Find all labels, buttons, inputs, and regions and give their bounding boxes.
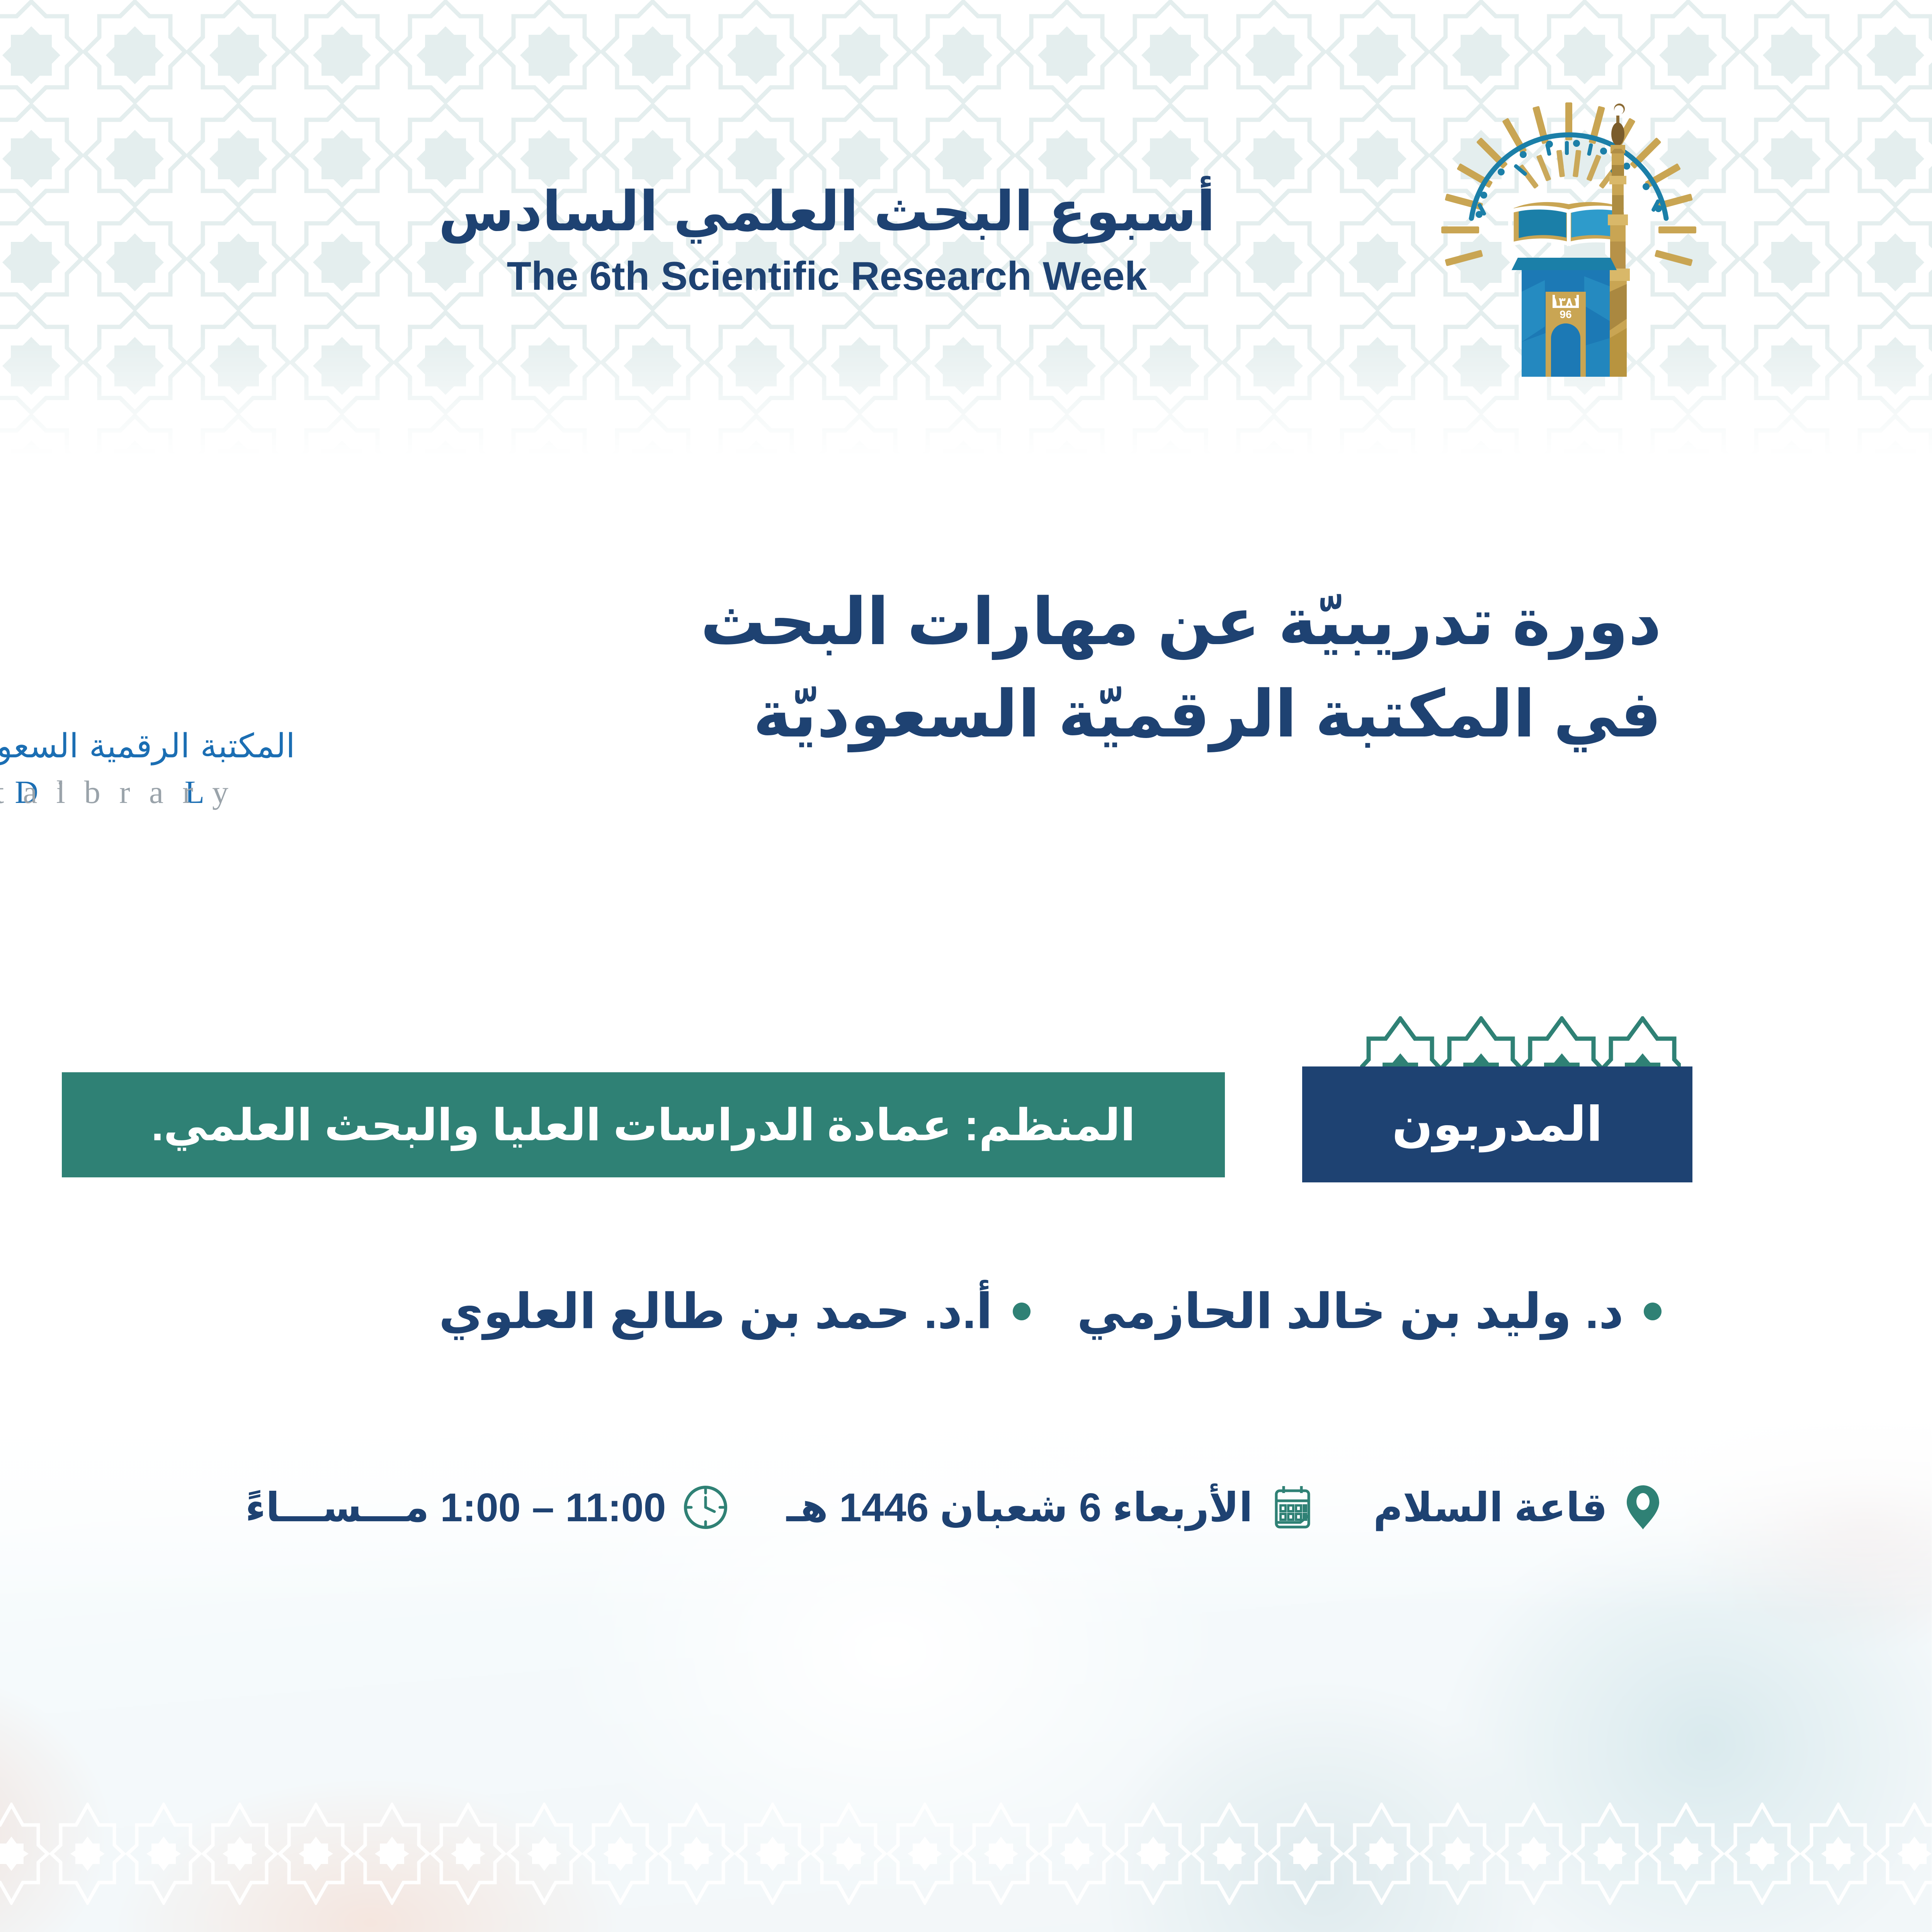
trainers-heading-label: المدربون <box>1392 1097 1602 1152</box>
event-name-english: The 6th Scientific Research Week <box>402 251 1252 301</box>
location-label: قاعة السلام <box>1373 1484 1607 1531</box>
course-title-line-2: في المكتبة الرقميّة السعوديّة <box>348 668 1662 760</box>
decorative-star-band <box>0 1803 1932 1905</box>
clock-icon <box>683 1485 728 1530</box>
course-title-line-1: دورة تدريبيّة عن مهارات البحث <box>348 576 1662 668</box>
list-item: د. وليد بن خالد الحازمي <box>1077 1283 1662 1340</box>
organizer-label: المنظم: عمادة الدراسات العليا والبحث الع… <box>151 1099 1136 1151</box>
event-details-row: قاعة السلام <box>0 1484 1662 1531</box>
star-crown-ornament <box>1360 1016 1681 1067</box>
time-label: 11:00 – 1:00 مـــســـاءً <box>245 1484 666 1531</box>
date-label: الأربعاء 6 شعبان 1446 هـ <box>786 1484 1253 1531</box>
saudi-digital-library-logo: SDL المكتبة الرقمية السعودية S a u d i D… <box>0 591 380 838</box>
trainers-list: د. وليد بن خالد الحازمي أ.د. حمد بن طالع… <box>0 1283 1662 1340</box>
event-name-block: أسبوع البحث العلمي السادس The 6th Scient… <box>402 182 1252 301</box>
location-detail: قاعة السلام <box>1373 1484 1662 1531</box>
organizer-badge: المنظم: عمادة الدراسات العليا والبحث الع… <box>62 1072 1225 1177</box>
trainers-heading-badge: المدربون <box>1302 1066 1692 1182</box>
bullet-dot-icon <box>1013 1303 1031 1320</box>
logo-year-hijri: ١٣٨١ <box>1551 295 1580 309</box>
location-pin-icon <box>1624 1485 1662 1530</box>
logo-year-latin: 96 <box>1560 308 1571 320</box>
calendar-icon <box>1270 1485 1315 1530</box>
trainer-name: د. وليد بن خالد الحازمي <box>1077 1283 1624 1340</box>
event-name-arabic: أسبوع البحث العلمي السادس <box>402 182 1252 242</box>
time-detail: 11:00 – 1:00 مـــســـاءً <box>245 1484 729 1531</box>
bullet-dot-icon <box>1644 1303 1662 1320</box>
trainer-name: أ.د. حمد بن طالع العلوي <box>439 1283 993 1340</box>
date-detail: الأربعاء 6 شعبان 1446 هـ <box>786 1484 1315 1531</box>
islamic-university-of-madinah-logo: ١٣٨١ 96 <box>1422 75 1716 381</box>
svg-text:i b r a r y: i b r a r y <box>56 774 234 810</box>
poster-header: أسبوع البحث العلمي السادس The 6th Scient… <box>0 0 1932 425</box>
course-title: دورة تدريبيّة عن مهارات البحث في المكتبة… <box>348 576 1662 760</box>
sdl-name-arabic: المكتبة الرقمية السعودية <box>0 727 295 765</box>
list-item: أ.د. حمد بن طالع العلوي <box>439 1283 1031 1340</box>
